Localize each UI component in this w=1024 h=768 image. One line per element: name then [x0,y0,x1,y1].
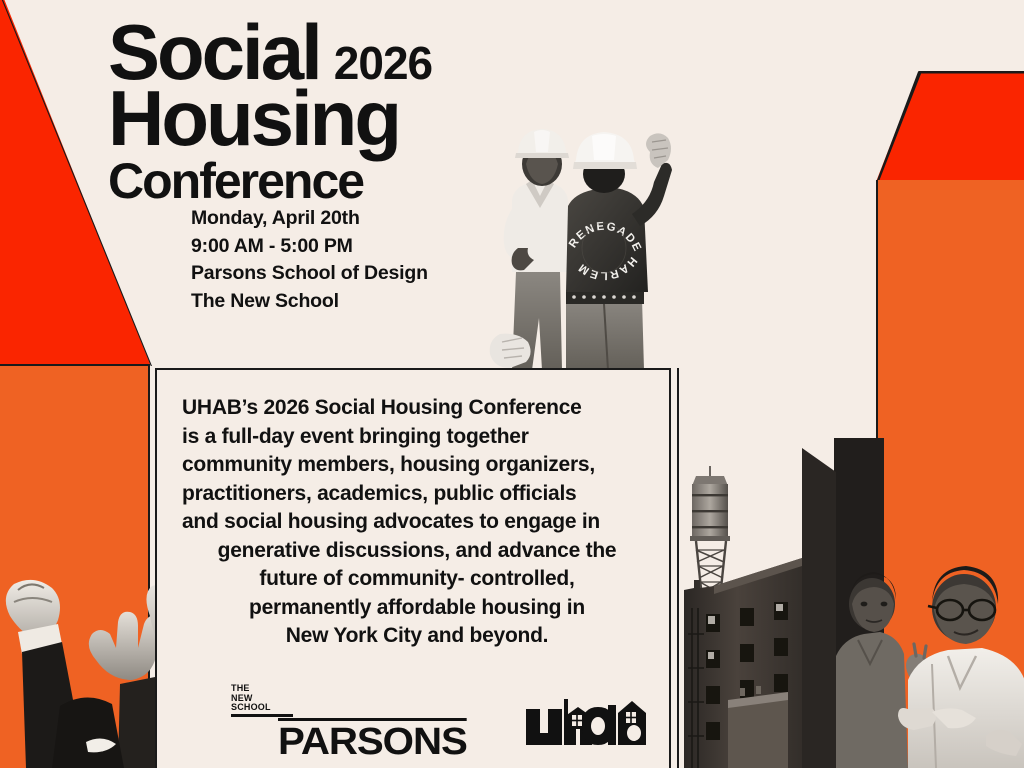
description-line: community members, housing organizers, [182,451,652,480]
poster-canvas: RENEGADES HARLEM [0,0,1024,768]
photo-two-people-conversation [836,560,1024,768]
parsons-wordmark: PARSONS [278,718,467,761]
event-time: 9:00 AM - 5:00 PM [191,233,521,261]
logo-uhab [524,695,654,747]
event-institution: The New School [191,288,521,316]
description-line: and social housing advocates to engage i… [182,508,652,537]
tns-line-3: SCHOOL [231,703,293,713]
headline-line-housing: Housing [108,83,728,155]
description-line: is a full-day event bringing together [182,423,652,452]
headline-block: Social 2026 Housing Conference [108,18,728,206]
description-line: UHAB’s 2026 Social Housing Conference [182,394,652,423]
description-line: practitioners, academics, public officia… [182,480,652,509]
headline-line-conference: Conference [108,156,728,206]
event-venue: Parsons School of Design [191,260,521,288]
water-tower [690,466,730,598]
description-line: New York City and beyond. [182,622,652,651]
the-new-school-lockup: THE NEW SCHOOL [231,684,293,717]
vertical-rule-right [677,368,679,768]
event-date: Monday, April 20th [191,205,521,233]
description-line: generative discussions, and advance the [182,537,652,566]
description-line: future of community- controlled, [182,565,652,594]
event-details: Monday, April 20th 9:00 AM - 5:00 PM Par… [191,205,521,316]
red-roof-shape-right [874,71,1024,182]
description-line: permanently affordable housing in [182,594,652,623]
logo-parsons-the-new-school: THE NEW SCHOOL PARSONS [231,684,456,761]
description-text: UHAB’s 2026 Social Housing Conference is… [182,394,652,651]
